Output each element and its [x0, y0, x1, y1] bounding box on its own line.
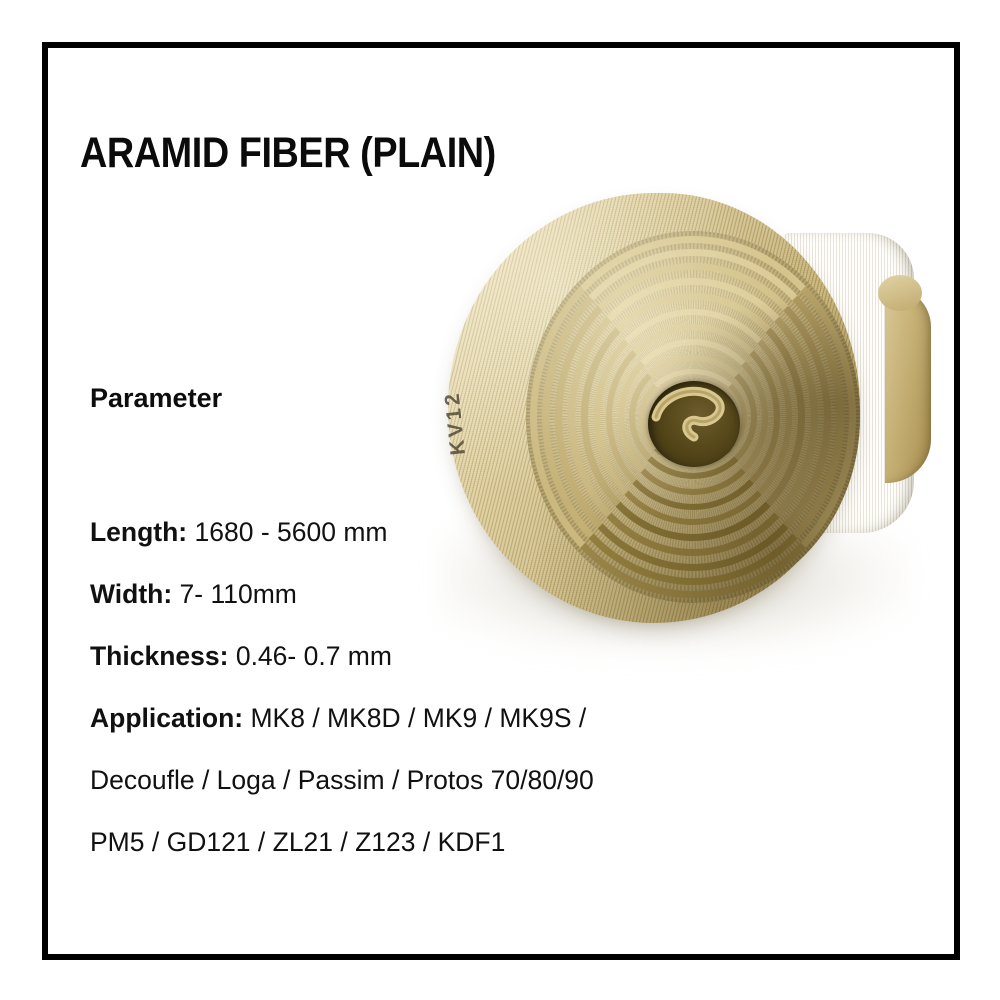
page-title: ARAMID FIBER (PLAIN): [80, 129, 496, 177]
application-continuation-1: Decoufle / Loga / Passim / Protos 70/80/…: [90, 749, 730, 811]
spec-label-application: Application:: [90, 703, 243, 733]
application-continuation-2: PM5 / GD121 / ZL21 / Z123 / KDF1: [90, 811, 730, 873]
spec-list: Length: 1680 - 5600 mm Width: 7- 110mm T…: [90, 501, 730, 873]
spec-row-thickness: Thickness: 0.46- 0.7 mm: [90, 625, 730, 687]
spec-value-thickness: 0.46- 0.7 mm: [236, 641, 392, 671]
tape-tail-fold: [885, 287, 931, 483]
spec-value-application: MK8 / MK8D / MK9 / MK9S /: [250, 703, 586, 733]
spec-label-width: Width:: [90, 579, 172, 609]
tape-end-curl-shape: [636, 371, 752, 477]
spec-row-application: Application: MK8 / MK8D / MK9 / MK9S /: [90, 687, 730, 749]
spec-label-thickness: Thickness:: [90, 641, 228, 671]
spec-value-width: 7- 110mm: [180, 579, 297, 609]
spec-label-length: Length:: [90, 517, 187, 547]
tape-end-curl: [636, 371, 752, 477]
spec-row-width: Width: 7- 110mm: [90, 563, 730, 625]
parameter-heading: Parameter: [90, 382, 222, 414]
spec-row-length: Length: 1680 - 5600 mm: [90, 501, 730, 563]
spec-value-length: 1680 - 5600 mm: [195, 517, 388, 547]
product-spec-card: KV12: [0, 0, 1000, 1000]
tape-tail-fold-edge: [878, 275, 922, 311]
